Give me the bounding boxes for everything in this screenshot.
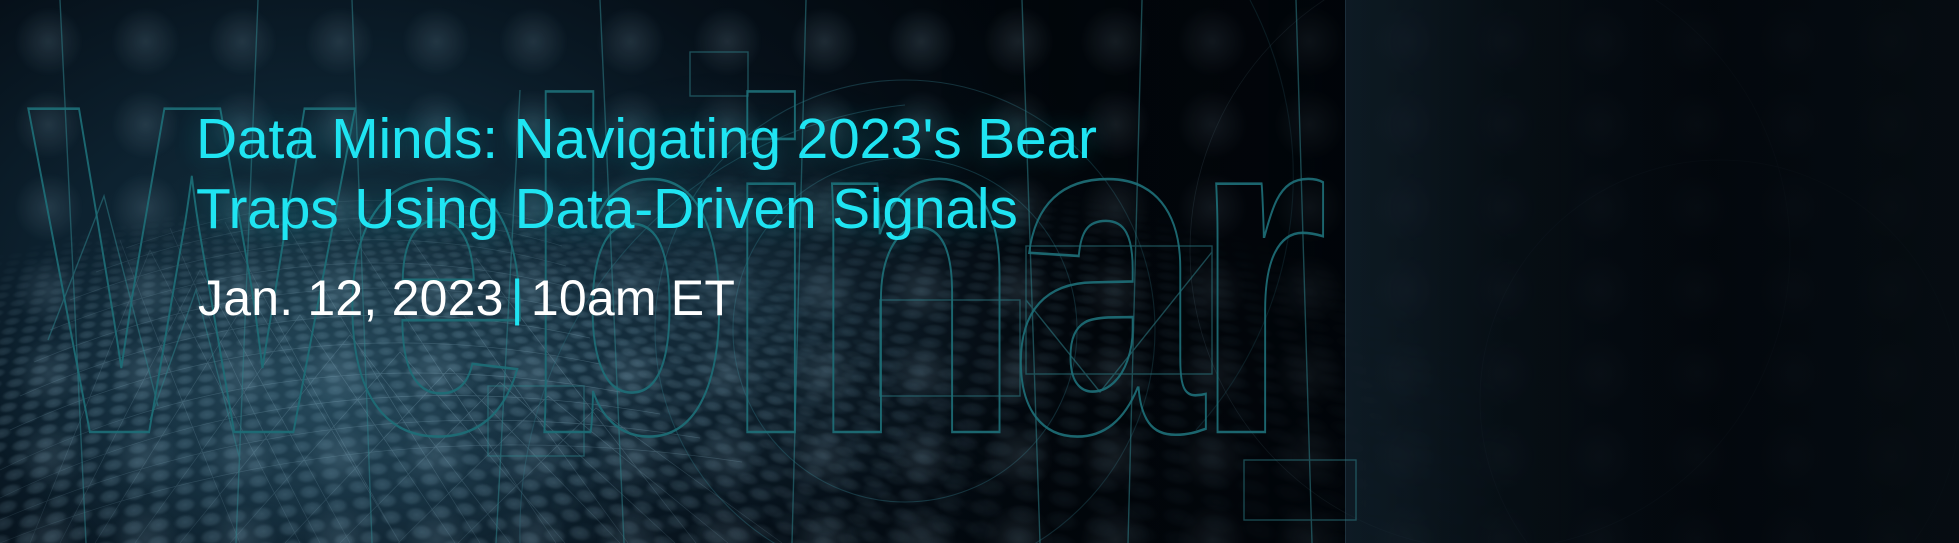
datetime-separator: | [504,270,531,326]
event-date: Jan. 12, 2023 [198,270,504,326]
event-datetime: Jan. 12, 2023|10am ET [198,268,735,328]
page-title: Data Minds: Navigating 2023's Bear Traps… [196,104,1097,244]
banner-copy: Data Minds: Navigating 2023's Bear Traps… [196,0,1196,543]
event-time: 10am ET [531,270,735,326]
webinar-banner: Webinar Data Minds: Navigating 2023's Be… [0,0,1959,543]
